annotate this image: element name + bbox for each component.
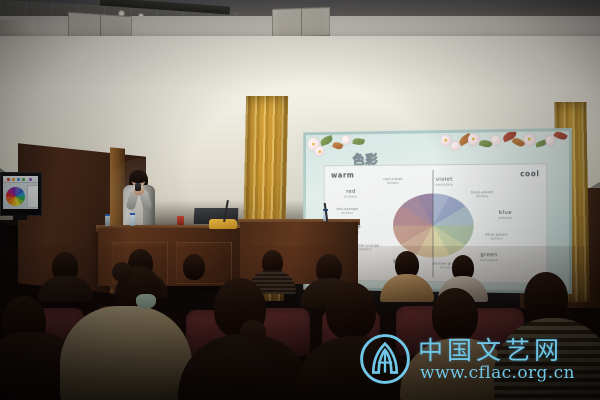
wheel-label-blue: blue primary <box>490 211 521 220</box>
audience-head <box>183 254 205 280</box>
monitor-color-wheel <box>6 187 25 206</box>
wheel-label-blue-violet: blue-violet tertiary <box>465 191 499 198</box>
cflac-logo-icon <box>358 332 412 386</box>
presenter-speaker <box>122 172 156 230</box>
audience-shoulders-tan <box>380 274 434 302</box>
watermark-chinese-text: 中国文艺网 <box>418 331 563 367</box>
wheel-label-blue-green: blue-green tertiary <box>478 234 515 241</box>
monitor-notes-pane <box>27 185 38 208</box>
presenter-monitor <box>0 172 42 216</box>
label-cool: cool <box>520 170 539 178</box>
hair <box>130 170 147 183</box>
microphone-icon <box>135 183 141 191</box>
watermark-url: www.cflac.org.cn <box>420 363 575 383</box>
hair-bun <box>112 262 132 282</box>
wheel-label-violet: violet secondary <box>428 178 460 187</box>
water-bottle <box>105 214 110 226</box>
watermark: 中国文艺网 www.cflac.org.cn <box>356 328 588 390</box>
audience-head-front <box>524 272 568 324</box>
screenshot-root: 色彩 warm cool red primary red-violet tert… <box>0 0 600 400</box>
audience-hoodie-beige <box>60 306 192 400</box>
wheel-label-red: red primary <box>337 190 364 199</box>
label-warm: warm <box>331 172 354 180</box>
powerpoint-ribbon <box>3 176 38 183</box>
wheel-label-red-orange: red-orange tertiary <box>330 208 364 215</box>
audience-shoulders <box>38 276 94 302</box>
monitor-screen <box>3 176 38 209</box>
wheel-label-red-violet: red-violet tertiary <box>377 178 408 185</box>
water-bottle <box>130 213 135 226</box>
monitor-stand <box>13 214 27 220</box>
red-object <box>177 216 184 225</box>
floral-border-decoration <box>306 131 569 164</box>
face-mask-icon <box>136 294 156 309</box>
